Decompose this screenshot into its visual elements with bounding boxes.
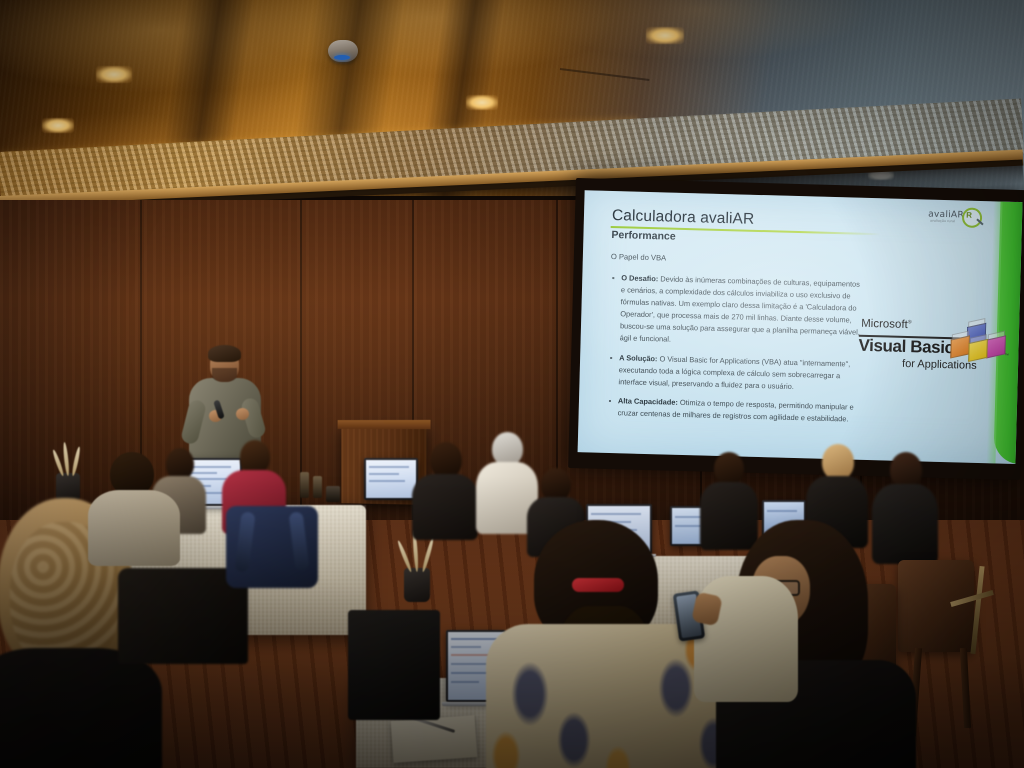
table-centerpiece-vase-left <box>56 440 80 502</box>
laptop-content-line <box>767 510 797 512</box>
slide-bullet-label: O Desafio: <box>621 274 658 284</box>
laptop-content-line <box>369 466 409 468</box>
bottle <box>300 472 309 498</box>
lectern-top-surface <box>338 420 431 429</box>
visual-basic-for-applications-logo: Microsoft® Visual Basic® for Application… <box>858 316 1008 382</box>
vba-vendor-text: Microsoft® <box>861 318 912 331</box>
person-torso-beige <box>88 490 180 566</box>
magnifier-icon: R <box>962 207 983 228</box>
ceiling-downlight <box>466 95 498 110</box>
laptop-screen <box>364 458 418 500</box>
smoke-detector-icon <box>328 40 358 62</box>
laptop-bag <box>348 610 440 720</box>
person-head-hair <box>890 452 922 488</box>
person-torso-dark <box>0 648 162 768</box>
audience-person <box>412 442 478 538</box>
trademark-mark-icon: ™ <box>1004 353 1009 358</box>
avaliar-logo: avaliAR avaliação rural R <box>928 206 985 228</box>
person-head-hair <box>430 442 462 478</box>
person-head-hair <box>492 432 523 466</box>
person-head-hair <box>822 444 854 480</box>
vase-body <box>404 568 430 602</box>
vba-cube-magenta-icon <box>986 335 1006 358</box>
slide-bullet-label: A Solução: <box>619 353 658 363</box>
laptop[interactable] <box>364 458 418 500</box>
slide-bullet-label: Alta Capacidade: <box>618 396 678 407</box>
registered-mark-icon: ® <box>908 319 912 325</box>
person-torso <box>412 474 478 540</box>
foreground-person-beige-top <box>88 452 180 562</box>
ceiling-downlight <box>646 27 684 44</box>
vba-cube-orange-icon <box>950 335 970 358</box>
laptop-content-line <box>451 681 479 683</box>
laptop-content-line <box>451 646 481 648</box>
laptop-content-line <box>369 473 399 475</box>
laptop-content-line <box>369 480 405 482</box>
laptop-display <box>366 460 416 498</box>
vba-suffix-text: for Applications <box>902 358 977 372</box>
ceiling-downlight <box>96 66 132 83</box>
presenter-beard <box>212 368 237 382</box>
slide-subtitle: Performance <box>611 229 676 243</box>
ceiling-downlight <box>42 118 74 133</box>
slide-lead-in: O Papel do VBA <box>611 252 667 262</box>
conference-photo-scene: avaliAR avaliação rural R Calculadora av… <box>0 0 1024 768</box>
slide-bullet: O Desafio: Devido às inúmeras combinaçõe… <box>609 272 866 351</box>
presentation-slide: avaliAR avaliação rural R Calculadora av… <box>578 190 1023 464</box>
vba-product-text: Visual Basic® <box>858 336 958 359</box>
vba-cube-yellow-icon <box>968 339 988 362</box>
laptop-content-line <box>591 513 641 515</box>
presenter-hand-right <box>236 408 249 420</box>
coffee-carafe <box>326 486 340 502</box>
pampas-stem <box>62 442 70 476</box>
pampas-stem <box>71 446 81 476</box>
avaliar-logo-tagline: avaliação rural <box>930 219 955 224</box>
person-head-hair <box>240 440 270 474</box>
projection-screen: avaliAR avaliação rural R Calculadora av… <box>568 178 1024 480</box>
hair-tie <box>572 578 624 592</box>
person-head-hair <box>714 452 744 485</box>
slide-bullet: A Solução: O Visual Basic for Applicatio… <box>607 352 863 395</box>
slide-title: Calculadora avaliAR <box>612 207 755 229</box>
presenter-hair <box>208 345 241 362</box>
slide-bullet-text: Devido às inúmeras combinações de cultur… <box>620 275 860 344</box>
slide-bullet: Alta Capacidade: Otimiza o tempo de resp… <box>606 395 862 426</box>
laptop-content-line <box>451 663 487 665</box>
bottle <box>313 476 322 498</box>
slide-bullet-list: O Desafio: Devido às inúmeras combinaçõe… <box>606 265 865 429</box>
